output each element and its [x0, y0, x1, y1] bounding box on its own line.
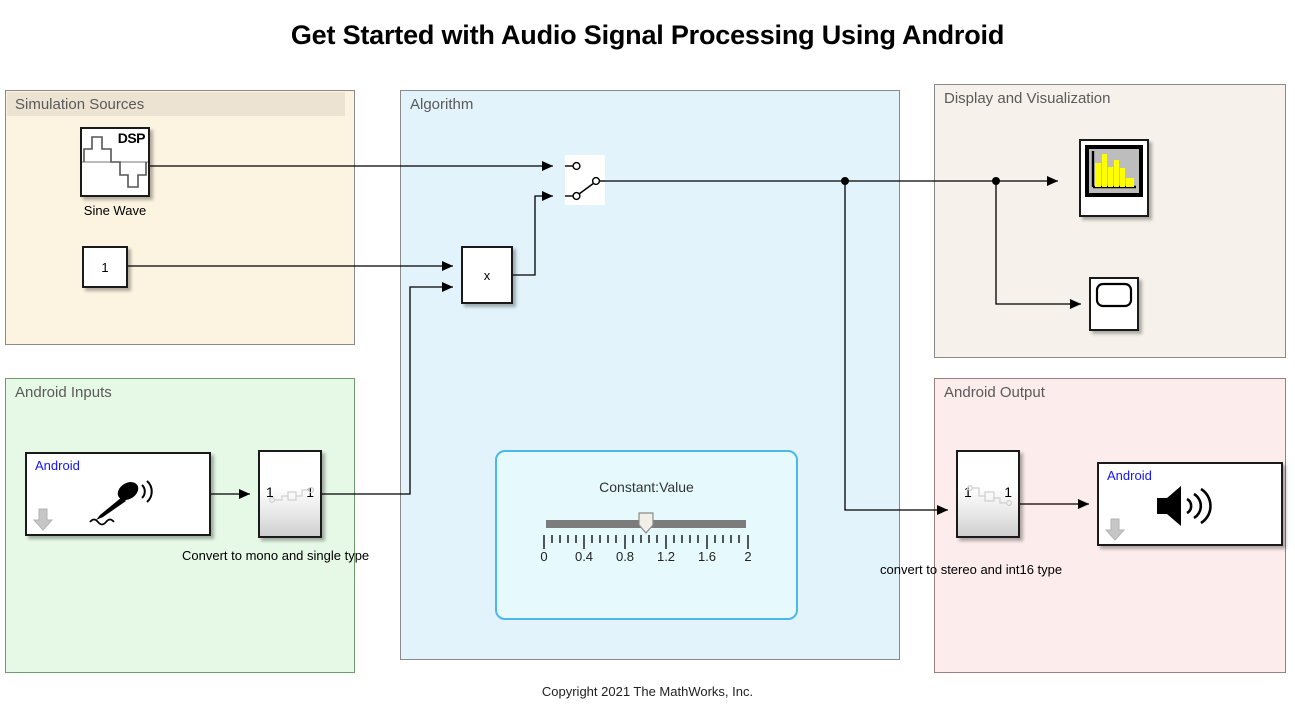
- constant-one-block[interactable]: 1: [82, 246, 128, 288]
- slider-tick-label: 0: [540, 549, 547, 564]
- page-title: Get Started with Audio Signal Processing…: [0, 20, 1295, 51]
- stereo-converter-label: convert to stereo and int16 type: [880, 562, 1180, 577]
- slider-tick-label: 1.6: [698, 549, 716, 564]
- manual-switch-block[interactable]: [565, 155, 605, 205]
- android-speaker-block[interactable]: Android: [1097, 462, 1283, 546]
- slider-tick-labels: 0 0.4 0.8 1.2 1.6 2: [535, 549, 757, 567]
- copyright-notice: Copyright 2021 The MathWorks, Inc.: [0, 684, 1295, 699]
- down-arrow-badge-icon: [1105, 518, 1127, 542]
- time-scope-icon: [1091, 279, 1137, 329]
- android-vendor-label: Android: [35, 458, 80, 473]
- spectrum-analyzer-icon: [1081, 141, 1147, 215]
- manual-switch-icon: [565, 155, 605, 205]
- constant-value-slider-panel[interactable]: Constant:Value: [495, 450, 798, 620]
- stereo-converter-subsystem[interactable]: 1 1: [956, 450, 1020, 538]
- sine-wave-block[interactable]: DSP: [80, 127, 150, 197]
- android-microphone-block[interactable]: Android: [25, 452, 211, 536]
- mono-converter-subsystem[interactable]: 1 1: [258, 450, 322, 538]
- microphone-icon: [70, 476, 170, 526]
- area-title-simulation-sources: Simulation Sources: [15, 96, 144, 113]
- time-scope-block[interactable]: [1089, 277, 1139, 331]
- product-block[interactable]: x: [461, 246, 513, 304]
- product-symbol: x: [463, 248, 511, 302]
- subsystem-glyph-icon: [967, 482, 1013, 510]
- slider-tick-label: 2: [744, 549, 751, 564]
- dsp-badge-label: DSP: [118, 130, 145, 146]
- spectrum-analyzer-block[interactable]: [1079, 139, 1149, 217]
- android-vendor-label: Android: [1107, 468, 1152, 483]
- area-title-display-visualization: Display and Visualization: [944, 90, 1111, 107]
- model-canvas: Get Started with Audio Signal Processing…: [0, 0, 1295, 723]
- mono-converter-label: Convert to mono and single type: [182, 548, 422, 563]
- slider-caption: Constant:Value: [497, 479, 796, 495]
- area-title-android-inputs: Android Inputs: [15, 384, 112, 401]
- speaker-icon: [1155, 483, 1225, 529]
- slider-tick-label: 1.2: [657, 549, 675, 564]
- constant-one-value: 1: [84, 248, 126, 286]
- sine-wave-block-label: Sine Wave: [55, 203, 175, 218]
- slider-ruler: [543, 534, 749, 550]
- slider-tick-label: 0.4: [575, 549, 593, 564]
- area-title-android-output: Android Output: [944, 384, 1045, 401]
- slider-tick-label: 0.8: [616, 549, 634, 564]
- down-arrow-badge-icon: [33, 508, 55, 532]
- subsystem-glyph-icon: [269, 482, 315, 510]
- area-title-algorithm: Algorithm: [410, 96, 473, 113]
- slider-thumb[interactable]: [638, 512, 654, 534]
